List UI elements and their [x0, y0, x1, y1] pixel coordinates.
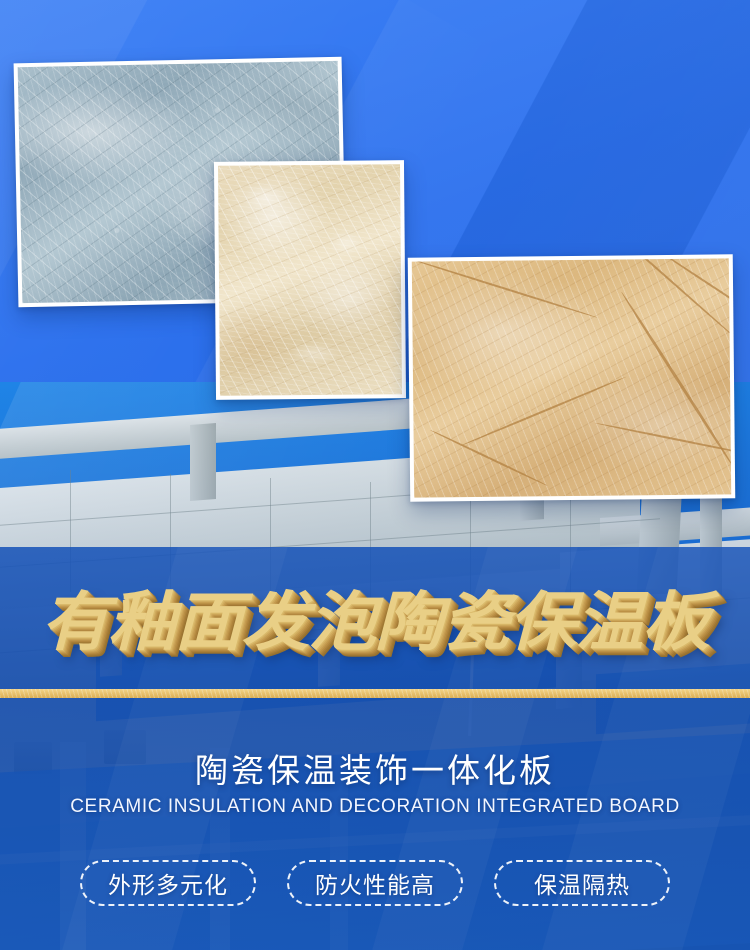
feature-pill-1-label: 外形多元化 [108, 866, 228, 900]
tile-texture-tan-gold [412, 258, 731, 497]
page-title-text: 有釉面发泡陶瓷保温板 [41, 586, 709, 660]
gold-divider [0, 689, 750, 698]
feature-pill-1[interactable]: 外形多元化 [80, 860, 256, 906]
tile-sample-tan-gold[interactable] [408, 254, 736, 501]
marble-vein-7 [430, 429, 548, 487]
marble-vein-1 [412, 258, 598, 318]
feature-pill-2-label: 防火性能高 [315, 866, 435, 900]
subtitle-chinese: 陶瓷保温装饰一体化板 [0, 744, 750, 792]
page-title: 有釉面发泡陶瓷保温板 [0, 586, 750, 660]
feature-pill-list: 外形多元化 防火性能高 保温隔热 [0, 860, 750, 906]
marble-vein-5 [654, 258, 731, 331]
feature-pill-3-label: 保温隔热 [534, 866, 630, 900]
subtitle-english: CERAMIC INSULATION AND DECORATION INTEGR… [0, 796, 750, 818]
tile-texture-cream [218, 164, 402, 396]
marble-vein-4 [460, 376, 627, 447]
product-banner: 有釉面发泡陶瓷保温板 陶瓷保温装饰一体化板 CERAMIC INSULATION… [0, 0, 750, 950]
feature-pill-2[interactable]: 防火性能高 [287, 860, 463, 906]
feature-pill-3[interactable]: 保温隔热 [494, 860, 670, 906]
tile-sample-cream[interactable] [214, 160, 406, 400]
marble-vein-6 [595, 422, 731, 458]
